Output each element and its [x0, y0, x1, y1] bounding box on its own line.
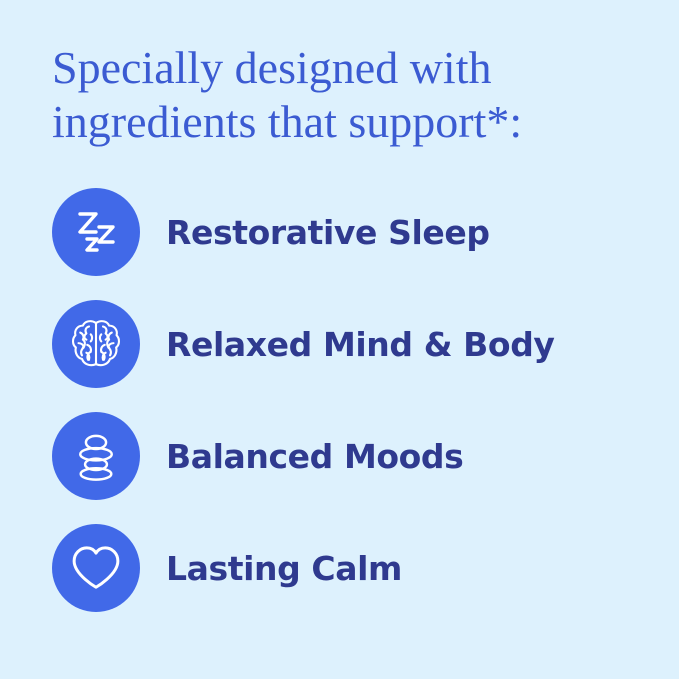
list-item-label: Balanced Moods	[166, 437, 463, 476]
list-item: Relaxed Mind & Body	[52, 300, 652, 388]
promo-graphic: Specially designed with ingredients that…	[0, 0, 679, 679]
list-item-label: Lasting Calm	[166, 549, 402, 588]
brain-icon	[52, 300, 140, 388]
page-title: Specially designed with ingredients that…	[52, 41, 612, 149]
list-item-label: Restorative Sleep	[166, 213, 490, 252]
list-item-label: Relaxed Mind & Body	[166, 325, 555, 364]
sleep-zzz-icon	[52, 188, 140, 276]
list-item: Lasting Calm	[52, 524, 652, 612]
heart-icon	[52, 524, 140, 612]
list-item: Restorative Sleep	[52, 188, 652, 276]
list-item: Balanced Moods	[52, 412, 652, 500]
balance-stones-icon	[52, 412, 140, 500]
benefit-list: Restorative Sleep	[52, 188, 652, 636]
